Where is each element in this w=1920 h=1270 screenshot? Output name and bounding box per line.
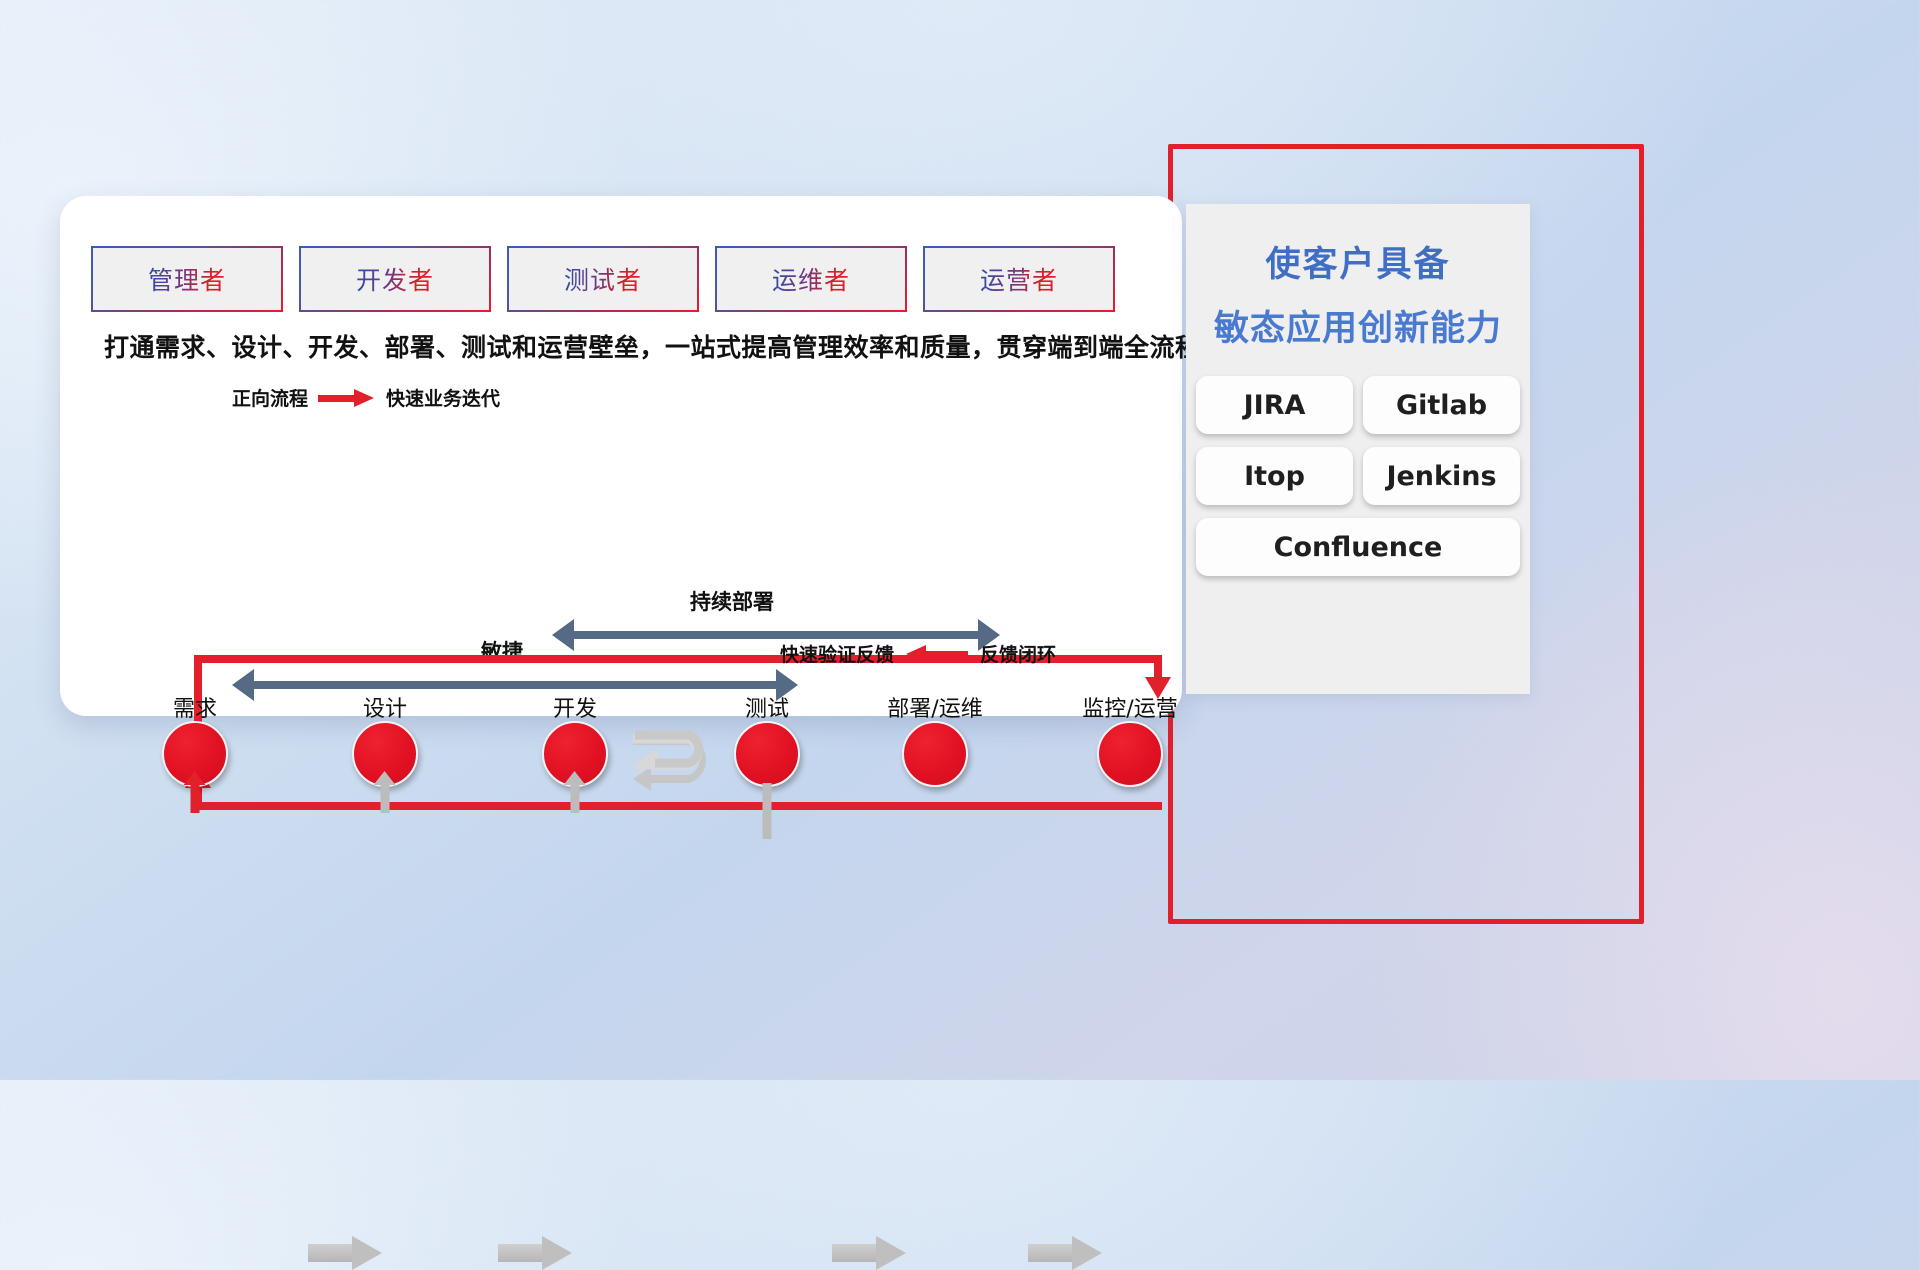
role-box-ops[interactable]: 运维者 xyxy=(717,248,905,310)
role-label: 管理者 xyxy=(148,261,226,297)
node-circle-icon xyxy=(902,721,968,787)
node-stem xyxy=(571,783,580,813)
node-label: 设计 xyxy=(363,691,407,723)
node-label: 需求 xyxy=(173,691,217,723)
node-label: 测试 xyxy=(745,691,789,723)
forward-flow-legend: 正向流程 快速业务迭代 xyxy=(232,384,500,411)
panel-headline-line2: 敏态应用创新能力 xyxy=(1186,300,1530,351)
fast-iteration-label: 快速业务迭代 xyxy=(386,384,500,411)
continuous-deployment-label: 持续部署 xyxy=(582,586,882,616)
node-stem-red xyxy=(191,783,200,813)
tagline-text: 打通需求、设计、开发、部署、测试和运营壁垒，一站式提高管理效率和质量，贯穿端到端… xyxy=(104,328,1164,364)
fast-validation-label: 快速验证反馈 xyxy=(780,640,894,667)
flow-arrow-1-icon xyxy=(308,1236,382,1270)
iteration-loop-icon xyxy=(631,729,721,791)
flow-arrow-3-icon xyxy=(832,1236,906,1270)
tool-pill-jira[interactable]: JIRA xyxy=(1196,376,1353,434)
tool-pill-group: JIRA Gitlab Itop Jenkins Confluence xyxy=(1196,376,1520,576)
right-arrow-icon xyxy=(318,389,376,407)
flow-arrow-2-icon xyxy=(498,1236,572,1270)
forward-flow-label: 正向流程 xyxy=(232,384,308,411)
tool-pill-itop[interactable]: Itop xyxy=(1196,447,1353,505)
tool-pill-confluence[interactable]: Confluence xyxy=(1196,518,1520,576)
node-label: 部署/运维 xyxy=(887,691,982,723)
role-label: 运维者 xyxy=(772,261,850,297)
node-stem xyxy=(763,783,772,839)
feedback-loop-label: 反馈闭环 xyxy=(980,640,1056,667)
main-card: 管理者 开发者 测试者 运维者 运营者 打通需求、设计、开发、部署、测试和运营壁… xyxy=(60,196,1182,716)
role-box-group: 管理者 开发者 测试者 运维者 运营者 xyxy=(93,248,1113,310)
role-box-operations[interactable]: 运营者 xyxy=(925,248,1113,310)
role-label: 运营者 xyxy=(980,261,1058,297)
tool-pill-jenkins[interactable]: Jenkins xyxy=(1363,447,1520,505)
role-box-manager[interactable]: 管理者 xyxy=(93,248,281,310)
capability-panel: 使客户具备 敏态应用创新能力 JIRA Gitlab Itop Jenkins … xyxy=(1186,204,1530,694)
node-label: 开发 xyxy=(553,691,597,723)
feedback-legend: 快速验证反馈 反馈闭环 xyxy=(780,640,1056,667)
slide-canvas: 管理者 开发者 测试者 运维者 运营者 打通需求、设计、开发、部署、测试和运营壁… xyxy=(0,0,1920,1080)
node-label: 监控/运营 xyxy=(1082,691,1177,723)
panel-headline-line1: 使客户具备 xyxy=(1186,236,1530,287)
tool-pill-gitlab[interactable]: Gitlab xyxy=(1363,376,1520,434)
role-label: 测试者 xyxy=(564,261,642,297)
node-stem xyxy=(381,783,390,813)
left-arrow-icon xyxy=(906,645,968,663)
role-label: 开发者 xyxy=(356,261,434,297)
role-box-tester[interactable]: 测试者 xyxy=(509,248,697,310)
node-circle-icon xyxy=(734,721,800,787)
node-circle-icon xyxy=(1097,721,1163,787)
flow-arrow-4-icon xyxy=(1028,1236,1102,1270)
role-box-developer[interactable]: 开发者 xyxy=(301,248,489,310)
